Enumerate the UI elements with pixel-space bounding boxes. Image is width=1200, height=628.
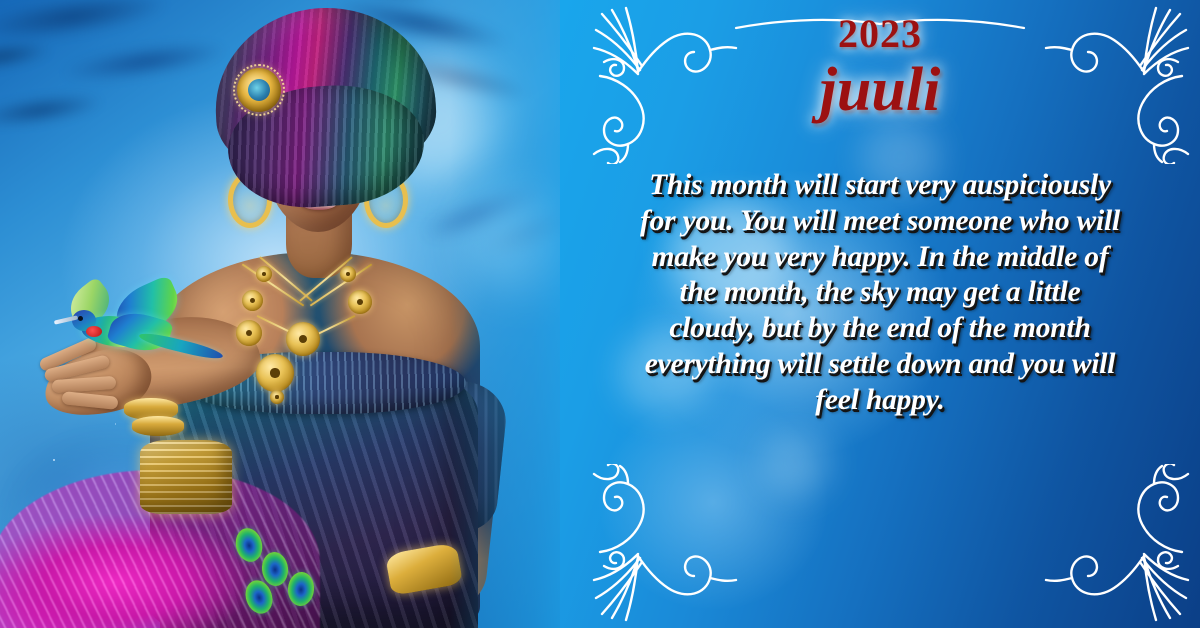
corner-flourish-icon xyxy=(1042,464,1192,624)
necklace-disc xyxy=(236,320,262,346)
horoscope-card: 2023 juuli This month will start very au… xyxy=(0,0,1200,628)
bird-throat xyxy=(86,326,102,337)
necklace-disc xyxy=(348,290,372,314)
month-title: juuli xyxy=(560,58,1200,123)
corner-flourish-icon xyxy=(590,464,740,624)
necklace-disc xyxy=(256,354,294,392)
title-block: 2023 juuli xyxy=(560,14,1200,123)
year-label: 2023 xyxy=(560,14,1200,54)
hummingbird-icon xyxy=(60,282,180,364)
necklace-disc xyxy=(242,290,263,311)
horoscope-text: This month will start very auspiciously … xyxy=(638,168,1122,419)
necklace-disc xyxy=(286,322,320,356)
brooch-ring xyxy=(233,64,285,116)
necklace-disc xyxy=(270,390,284,404)
necklace-disc xyxy=(340,266,356,282)
gold-arm-cuff xyxy=(140,440,232,514)
bokeh-glow xyxy=(760,430,830,496)
necklace-disc xyxy=(256,266,272,282)
bird-eye xyxy=(78,316,83,321)
gold-necklace xyxy=(230,262,380,397)
text-panel: 2023 juuli This month will start very au… xyxy=(560,0,1200,628)
gold-bangle xyxy=(132,416,184,436)
illustration-artwork xyxy=(0,0,600,628)
